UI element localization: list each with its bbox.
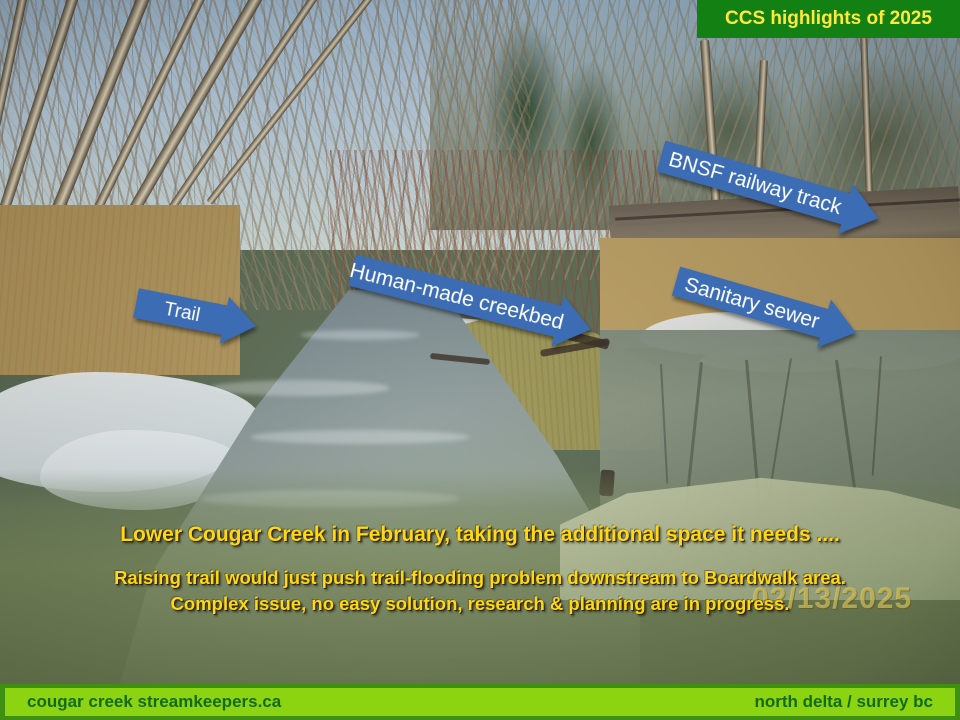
highlights-banner-title: CCS highlights of 2025 — [725, 8, 932, 30]
dry-grass-left-bank — [0, 205, 240, 375]
footer-location: north delta / surrey bc — [754, 692, 933, 712]
footer-website[interactable]: cougar creek streamkeepers.ca — [27, 692, 281, 712]
water-highlight — [250, 430, 470, 444]
callout-label: Trail — [163, 299, 202, 325]
water-highlight — [210, 380, 390, 396]
water-highlight — [300, 330, 420, 340]
highlights-banner: CCS highlights of 2025 — [697, 0, 960, 38]
creek-photograph — [0, 0, 960, 684]
footer-bar: cougar creek streamkeepers.ca north delt… — [0, 684, 960, 720]
slide-canvas: Trail Human-made creekbed BNSF railway t… — [0, 0, 960, 720]
footer-inner: cougar creek streamkeepers.ca north delt… — [5, 688, 955, 716]
